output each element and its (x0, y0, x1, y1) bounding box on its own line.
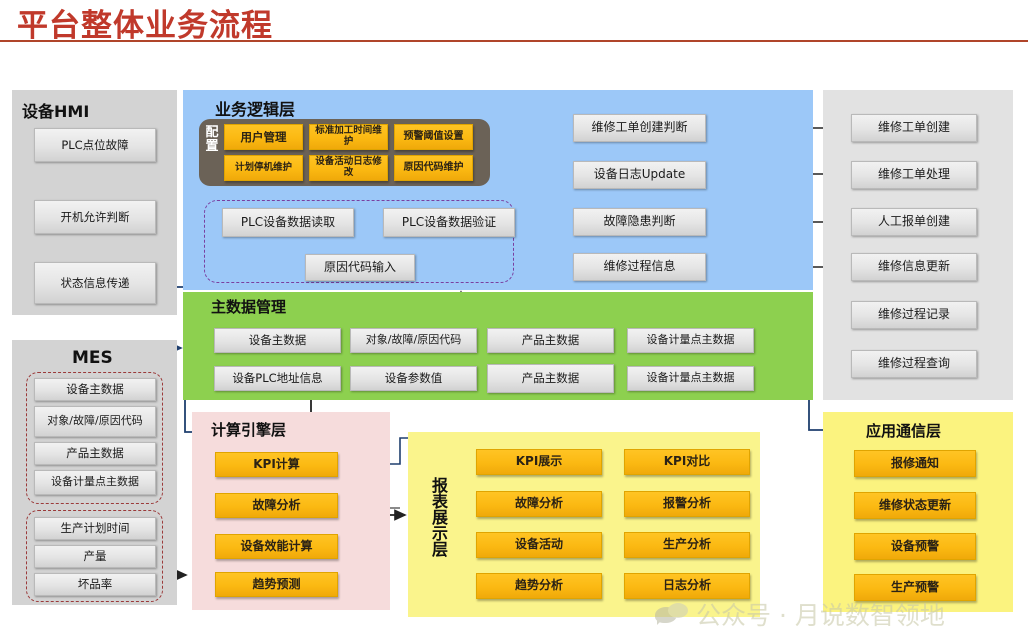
mes-panel-title: MES (72, 348, 113, 368)
maintenance-item-5[interactable]: 维修过程查询 (851, 350, 977, 378)
report-c2-item-0[interactable]: KPI对比 (624, 449, 750, 475)
mes-g2-item-2[interactable]: 坏品率 (34, 573, 156, 596)
app-comm-item-2[interactable]: 设备预警 (854, 533, 976, 560)
app-comm-item-1[interactable]: 维修状态更新 (854, 492, 976, 519)
hmi-item-1[interactable]: 开机允许判断 (34, 200, 156, 234)
watermark: 公众号 · 月说数智领地 (655, 596, 945, 632)
mdm-r1-item-2[interactable]: 产品主数据 (487, 328, 614, 353)
hmi-panel: 设备HMI PLC点位故障 开机允许判断 状态信息传递 (12, 90, 177, 315)
report-c1-item-2[interactable]: 设备活动 (476, 532, 602, 558)
mdm-r2-item-1[interactable]: 设备参数值 (350, 366, 477, 391)
config-item-2[interactable]: 预警阈值设置 (394, 124, 473, 150)
mes-g1-item-0[interactable]: 设备主数据 (34, 378, 156, 401)
config-item-1[interactable]: 标准加工时间维护 (309, 124, 388, 150)
report-c1-item-1[interactable]: 故障分析 (476, 491, 602, 517)
page-title: 平台整体业务流程 (17, 0, 273, 45)
decision-item-1[interactable]: 设备日志Update (573, 161, 706, 189)
mes-panel: MES 设备主数据 对象/故障/原因代码 产品主数据 设备计量点主数据 生产计划… (12, 340, 177, 605)
report-panel-title: 报表展示层 (430, 478, 450, 558)
title-bar: 平台整体业务流程 (0, 0, 1028, 42)
report-c2-item-2[interactable]: 生产分析 (624, 532, 750, 558)
mes-g1-item-2[interactable]: 产品主数据 (34, 442, 156, 465)
maintenance-item-4[interactable]: 维修过程记录 (851, 301, 977, 329)
report-c1-item-0[interactable]: KPI展示 (476, 449, 602, 475)
config-item-3[interactable]: 计划停机维护 (224, 155, 303, 181)
app-comm-item-0[interactable]: 报修通知 (854, 450, 976, 477)
maintenance-item-0[interactable]: 维修工单创建 (851, 114, 977, 142)
report-c1-item-3[interactable]: 趋势分析 (476, 573, 602, 599)
mes-g1-item-3[interactable]: 设备计量点主数据 (34, 470, 156, 495)
calc-item-3[interactable]: 趋势预测 (215, 572, 338, 597)
hmi-item-0[interactable]: PLC点位故障 (34, 128, 156, 162)
maintenance-item-1[interactable]: 维修工单处理 (851, 161, 977, 189)
watermark-text: 公众号 · 月说数智领地 (696, 596, 945, 632)
calc-engine-title: 计算引擎层 (211, 419, 286, 440)
master-data-title: 主数据管理 (211, 296, 286, 317)
mdm-r1-item-0[interactable]: 设备主数据 (214, 328, 341, 353)
mdm-r2-item-2[interactable]: 产品主数据 (487, 364, 614, 393)
hmi-item-2[interactable]: 状态信息传递 (34, 262, 156, 304)
decision-item-2[interactable]: 故障隐患判断 (573, 208, 706, 236)
plc-item-reason-input[interactable]: 原因代码输入 (305, 254, 415, 281)
mdm-r1-item-1[interactable]: 对象/故障/原因代码 (350, 328, 477, 353)
plc-item-validate[interactable]: PLC设备数据验证 (383, 208, 515, 237)
calc-item-0[interactable]: KPI计算 (215, 452, 338, 477)
calc-item-2[interactable]: 设备效能计算 (215, 534, 338, 559)
mes-g2-item-0[interactable]: 生产计划时间 (34, 517, 156, 540)
plc-item-read[interactable]: PLC设备数据读取 (222, 208, 354, 237)
decision-item-0[interactable]: 维修工单创建判断 (573, 114, 706, 142)
config-item-4[interactable]: 设备活动日志修改 (309, 155, 388, 181)
mes-g2-item-1[interactable]: 产量 (34, 545, 156, 568)
decision-item-3[interactable]: 维修过程信息 (573, 253, 706, 281)
wechat-bubble-icon (655, 603, 689, 625)
calc-item-1[interactable]: 故障分析 (215, 493, 338, 518)
mdm-r2-item-0[interactable]: 设备PLC地址信息 (214, 366, 341, 391)
mdm-r1-item-3[interactable]: 设备计量点主数据 (627, 328, 754, 353)
report-c2-item-1[interactable]: 报警分析 (624, 491, 750, 517)
config-item-5[interactable]: 原因代码维护 (394, 155, 473, 181)
business-logic-title: 业务逻辑层 (215, 96, 295, 120)
maintenance-item-3[interactable]: 维修信息更新 (851, 253, 977, 281)
config-label: 配置 (203, 126, 221, 153)
mdm-r2-item-3[interactable]: 设备计量点主数据 (627, 366, 754, 391)
mes-g1-item-1[interactable]: 对象/故障/原因代码 (34, 406, 156, 437)
maintenance-item-2[interactable]: 人工报单创建 (851, 208, 977, 236)
app-comm-title: 应用通信层 (866, 420, 941, 441)
config-item-0[interactable]: 用户管理 (224, 124, 303, 150)
hmi-panel-title: 设备HMI (22, 98, 89, 122)
